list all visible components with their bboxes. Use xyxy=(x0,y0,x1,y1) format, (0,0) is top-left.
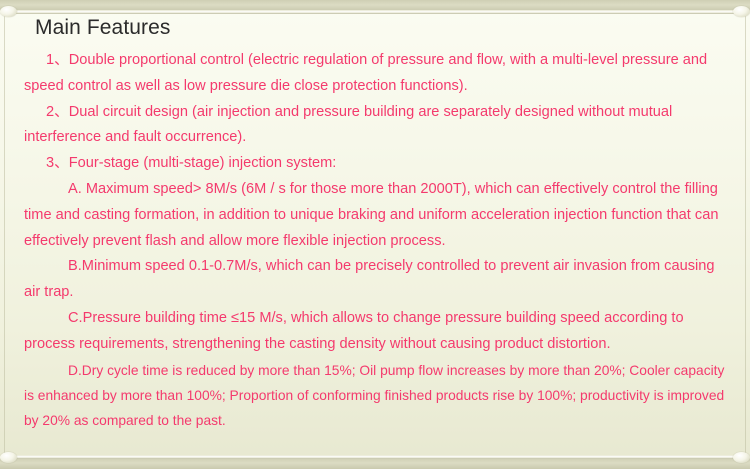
bottom-left-node-icon xyxy=(0,452,17,463)
feature-paragraph-3: 3、Four-stage (multi-stage) injection sys… xyxy=(18,151,734,177)
bottom-band xyxy=(0,458,750,469)
feature-paragraph-3c: C.Pressure building time ≤15 M/s, which … xyxy=(18,306,734,358)
feature-list: 1、Double proportional control (electric … xyxy=(18,48,734,433)
feature-paragraph-2: 2、Dual circuit design (air injection and… xyxy=(18,100,734,152)
bottom-right-node-icon xyxy=(733,452,750,463)
feature-paragraph-1: 1、Double proportional control (electric … xyxy=(18,48,734,100)
slide: Main Features 1、Double proportional cont… xyxy=(0,0,750,469)
bottom-rule-line xyxy=(10,455,740,459)
slide-content: Main Features 1、Double proportional cont… xyxy=(0,14,750,433)
feature-paragraph-3a: A. Maximum speed> 8M/s (6M / s for those… xyxy=(18,177,734,254)
bottom-ornament-band xyxy=(0,449,750,469)
page-title: Main Features xyxy=(18,14,734,42)
feature-paragraph-3b: B.Minimum speed 0.1-0.7M/s, which can be… xyxy=(18,254,734,306)
feature-paragraph-3d: D.Dry cycle time is reduced by more than… xyxy=(18,358,734,433)
